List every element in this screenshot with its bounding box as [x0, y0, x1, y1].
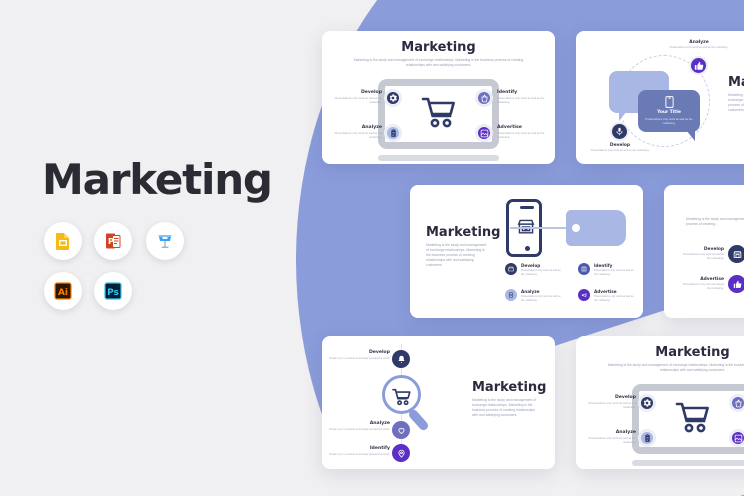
- node-label-group: Advertise Presentations only work as wel…: [497, 125, 555, 139]
- shop-icon[interactable]: [728, 245, 744, 263]
- clipboard-icon[interactable]: [638, 429, 656, 447]
- photoshop-icon[interactable]: Ps: [94, 272, 132, 310]
- node-label-group: Develop Presentations only work as well …: [584, 143, 656, 153]
- node-label-group: Develop Presentations only work as well …: [521, 263, 563, 277]
- speech-bubble-front-tail: [686, 130, 695, 141]
- svg-text:Ps: Ps: [107, 288, 119, 298]
- your-title-label: Your Title: [638, 110, 700, 115]
- slide-subtitle: Marketing is the study and management of…: [352, 58, 525, 68]
- node-label: Develop: [584, 143, 656, 148]
- phone-home-button: [525, 246, 530, 251]
- slide-card-magnifier-timeline[interactable]: Develop Power you to quickly and easily …: [322, 336, 555, 469]
- shop-icon[interactable]: [505, 263, 517, 275]
- node-label-group: Develop Presentations only work as well …: [680, 247, 724, 261]
- laptop-base-shape: [378, 155, 499, 161]
- slide-card-cart-laptop[interactable]: Marketing Marketing is the study and man…: [322, 31, 555, 164]
- node-label: Develop: [680, 247, 724, 252]
- node-desc: Presentations only work as well as the m…: [680, 283, 724, 291]
- slide-title: Marketing: [322, 40, 555, 55]
- magnifier-cart-icon: [382, 375, 421, 414]
- node-label-group: Develop Presentations only work as well …: [578, 395, 636, 409]
- node-label-group: Analyze Presentations only work as well …: [664, 40, 734, 50]
- node-label: Identify: [497, 90, 555, 95]
- slide-card-partial-right[interactable]: Marketing is the study and management of…: [664, 185, 744, 318]
- slide-subtitle: Marketing is the study and management of…: [686, 217, 744, 227]
- node-desc: Presentations only work as well as the m…: [324, 96, 382, 104]
- store-icon[interactable]: [578, 263, 590, 275]
- clipboard-icon[interactable]: [505, 289, 517, 301]
- node-desc: Presentations only work as well as the m…: [578, 401, 636, 409]
- node-label: Identify: [328, 446, 390, 451]
- page-title: Marketing: [42, 155, 272, 204]
- node-label-group: Analyze Presentations only work as well …: [521, 289, 563, 303]
- node-label: Analyze: [664, 40, 734, 45]
- laptop-base-shape: [632, 460, 744, 466]
- advertise-icon[interactable]: [475, 124, 493, 142]
- node-label-group: Analyze Presentations only work as well …: [578, 430, 636, 444]
- speech-bubble-front: Your Title Presentations only work as we…: [638, 90, 700, 132]
- node-label-group: Identify Presentations only work as well…: [594, 263, 636, 277]
- gear-icon[interactable]: [384, 89, 402, 107]
- node-desc: Presentations only work as well as the m…: [594, 295, 636, 303]
- thumbs-up-icon[interactable]: [728, 275, 744, 293]
- google-slides-icon[interactable]: [44, 222, 82, 260]
- node-label: Advertise: [680, 277, 724, 282]
- node-label: Develop: [324, 90, 382, 95]
- shopping-cart-icon: [675, 400, 711, 441]
- node-label: Analyze: [521, 289, 563, 294]
- node-label: Analyze: [328, 421, 390, 426]
- thumbs-up-icon[interactable]: [689, 56, 708, 75]
- node-label: Develop: [328, 350, 390, 355]
- node-label-group: Analyze Presentations only work as well …: [324, 125, 382, 139]
- node-desc: Presentations only work as well as the m…: [680, 253, 724, 261]
- advertise-icon[interactable]: [578, 289, 590, 301]
- magnifier-cart-glyph: [392, 388, 412, 411]
- gear-icon[interactable]: [638, 394, 656, 412]
- node-desc: Presentations only work as well as the m…: [521, 295, 563, 303]
- photoshop-glyph: Ps: [102, 280, 124, 302]
- microphone-icon[interactable]: [610, 122, 629, 141]
- node-desc: Presentations only work as well as the m…: [497, 131, 555, 139]
- node-desc: Power you to quickly and easily spread t…: [328, 427, 390, 431]
- node-label: Identify: [594, 263, 636, 268]
- slide-subtitle: Marketing is the study and management of…: [472, 398, 538, 418]
- node-label-group: Identify Presentations only work as well…: [497, 90, 555, 104]
- slide-subtitle: Marketing is the study and management of…: [426, 243, 488, 269]
- node-desc: Presentations only work as well as the m…: [578, 436, 636, 444]
- slide-title: Marketing: [472, 380, 546, 395]
- shopping-cart-icon: [421, 95, 457, 136]
- bell-icon[interactable]: [392, 350, 410, 368]
- price-tag-hole: [572, 224, 580, 232]
- node-label-group: Develop Presentations only work as well …: [324, 90, 382, 104]
- slide-title: Marketing: [426, 225, 500, 240]
- slide-subtitle: Marketing is the study and management of…: [728, 93, 744, 113]
- node-label-group: Advertise Presentations only work as wel…: [594, 289, 636, 303]
- node-label: Analyze: [324, 125, 382, 130]
- basket-icon[interactable]: [729, 394, 744, 412]
- your-title-desc: Presentations only work as well as the m…: [644, 117, 694, 125]
- node-desc: Presentations only work as well as the m…: [584, 149, 656, 153]
- presentation-template-preview: Marketing P: [0, 0, 744, 496]
- slide-title: Marketing: [576, 345, 744, 360]
- slide-card-speech-bubbles[interactable]: Your Title Presentations only work as we…: [576, 31, 744, 164]
- node-desc: Presentations only work as well as the m…: [324, 131, 382, 139]
- node-desc: Presentations only work as well as the m…: [497, 96, 555, 104]
- node-label: Analyze: [578, 430, 636, 435]
- node-label: Develop: [521, 263, 563, 268]
- node-label-group: Identify Power you to quickly and easily…: [328, 446, 390, 456]
- slide-card-cart-laptop-2[interactable]: Marketing Marketing is the study and man…: [576, 336, 744, 469]
- node-desc: Presentations only work as well as the m…: [594, 269, 636, 277]
- node-label-group: Develop Power you to quickly and easily …: [328, 350, 390, 360]
- shop-glyph-icon: [517, 219, 535, 240]
- location-icon[interactable]: [392, 444, 410, 462]
- magnifier-handle: [407, 408, 430, 432]
- keynote-glyph: [154, 230, 176, 252]
- price-tag-icon: [566, 210, 626, 246]
- node-label: Advertise: [594, 289, 636, 294]
- slide-title: Ma: [728, 75, 744, 90]
- node-label-group: Analyze Power you to quickly and easily …: [328, 421, 390, 431]
- speech-bubble-back-tail: [619, 111, 627, 121]
- slide-subtitle: Marketing is the study and management of…: [606, 363, 744, 373]
- phone-speaker: [520, 206, 534, 209]
- basket-icon[interactable]: [475, 89, 493, 107]
- node-desc: Power you to quickly and easily spread t…: [328, 452, 390, 456]
- node-label: Develop: [578, 395, 636, 400]
- hero-panel: Marketing P: [0, 0, 300, 496]
- node-desc: Power you to quickly and easily spread t…: [328, 356, 390, 360]
- svg-text:Ai: Ai: [58, 288, 68, 298]
- node-label: Advertise: [497, 125, 555, 130]
- illustrator-glyph: Ai: [52, 280, 74, 302]
- advertise-icon[interactable]: [729, 429, 744, 447]
- powerpoint-glyph: P: [102, 230, 124, 252]
- illustrator-icon[interactable]: Ai: [44, 272, 82, 310]
- svg-text:P: P: [108, 237, 114, 246]
- clipboard-icon[interactable]: [384, 124, 402, 142]
- node-desc: Presentations only work as well as the m…: [521, 269, 563, 277]
- keynote-icon[interactable]: [146, 222, 184, 260]
- node-desc: Presentations only work as well as the m…: [664, 46, 734, 50]
- node-label-group: Advertise Presentations only work as wel…: [680, 277, 724, 291]
- powerpoint-icon[interactable]: P: [94, 222, 132, 260]
- google-slides-glyph: [52, 230, 74, 252]
- slide-card-phone-tag[interactable]: Marketing Marketing is the study and man…: [410, 185, 643, 318]
- heart-icon[interactable]: [392, 421, 410, 439]
